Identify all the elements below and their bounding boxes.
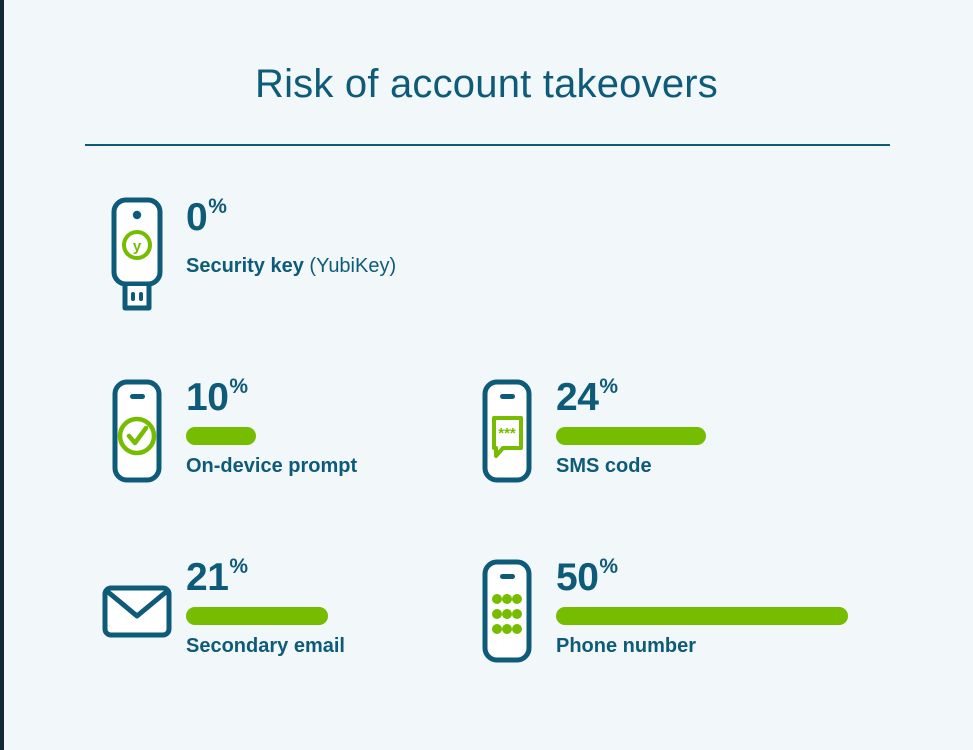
metric-secondary-email: 21% Secondary email <box>100 556 345 666</box>
metric-phone-number: 50% Phone number <box>470 556 848 666</box>
phone-check-icon <box>100 376 174 486</box>
svg-text:***: *** <box>498 425 516 442</box>
metric-percent-sign: % <box>599 375 618 398</box>
metric-label: Security key (YubiKey) <box>186 255 396 278</box>
metric-value: 0% <box>186 198 396 237</box>
metric-bar-track <box>186 427 357 445</box>
metric-label-main: On-device prompt <box>186 455 357 477</box>
metric-body: 21% Secondary email <box>174 556 345 658</box>
metric-bar-track <box>186 607 345 625</box>
metric-value: 21% <box>186 558 345 597</box>
metric-number: 0 <box>186 196 207 239</box>
metric-number: 24 <box>556 376 598 419</box>
metric-value: 24% <box>556 378 706 417</box>
metric-sms-code: *** 24% SMS code <box>470 376 706 486</box>
metric-number: 50 <box>556 556 598 599</box>
metric-bar-fill <box>556 427 706 445</box>
metric-label-main: Phone number <box>556 635 696 657</box>
metric-bar-track <box>556 607 848 625</box>
phone-keypad-icon <box>470 556 544 666</box>
svg-text:y: y <box>133 238 142 255</box>
yubikey-icon: y <box>100 196 174 312</box>
metric-body: 50% Phone number <box>544 556 848 658</box>
metric-value: 10% <box>186 378 357 417</box>
metric-label: On-device prompt <box>186 455 357 478</box>
metric-body: 24% SMS code <box>544 376 706 478</box>
metric-label-main: SMS code <box>556 455 652 477</box>
phone-sms-icon: *** <box>470 376 544 486</box>
metric-bar-track <box>556 427 706 445</box>
metric-bar-fill <box>186 427 256 445</box>
envelope-icon <box>100 556 174 666</box>
metric-body: 0% Security key (YubiKey) <box>174 196 396 278</box>
metric-label: SMS code <box>556 455 706 478</box>
metric-bar-fill <box>556 607 848 625</box>
metric-value: 50% <box>556 558 848 597</box>
metric-on-device-prompt: 10% On-device prompt <box>100 376 357 486</box>
metric-number: 21 <box>186 556 228 599</box>
metric-label: Phone number <box>556 635 848 658</box>
metric-percent-sign: % <box>229 555 248 578</box>
metric-bar-fill <box>186 607 328 625</box>
metric-label-main: Security key <box>186 255 304 277</box>
title-divider <box>85 144 890 146</box>
metric-label-sub: (YubiKey) <box>304 255 396 277</box>
page-title: Risk of account takeovers <box>0 62 973 107</box>
metric-number: 10 <box>186 376 228 419</box>
metric-percent-sign: % <box>599 555 618 578</box>
metric-percent-sign: % <box>208 195 227 218</box>
metric-percent-sign: % <box>229 375 248 398</box>
infographic-canvas: Risk of account takeovers y 0% Security <box>0 0 973 750</box>
metric-security-key: y 0% Security key (YubiKey) <box>100 196 396 312</box>
metric-label: Secondary email <box>186 635 345 658</box>
metric-label-main: Secondary email <box>186 635 345 657</box>
metric-body: 10% On-device prompt <box>174 376 357 478</box>
